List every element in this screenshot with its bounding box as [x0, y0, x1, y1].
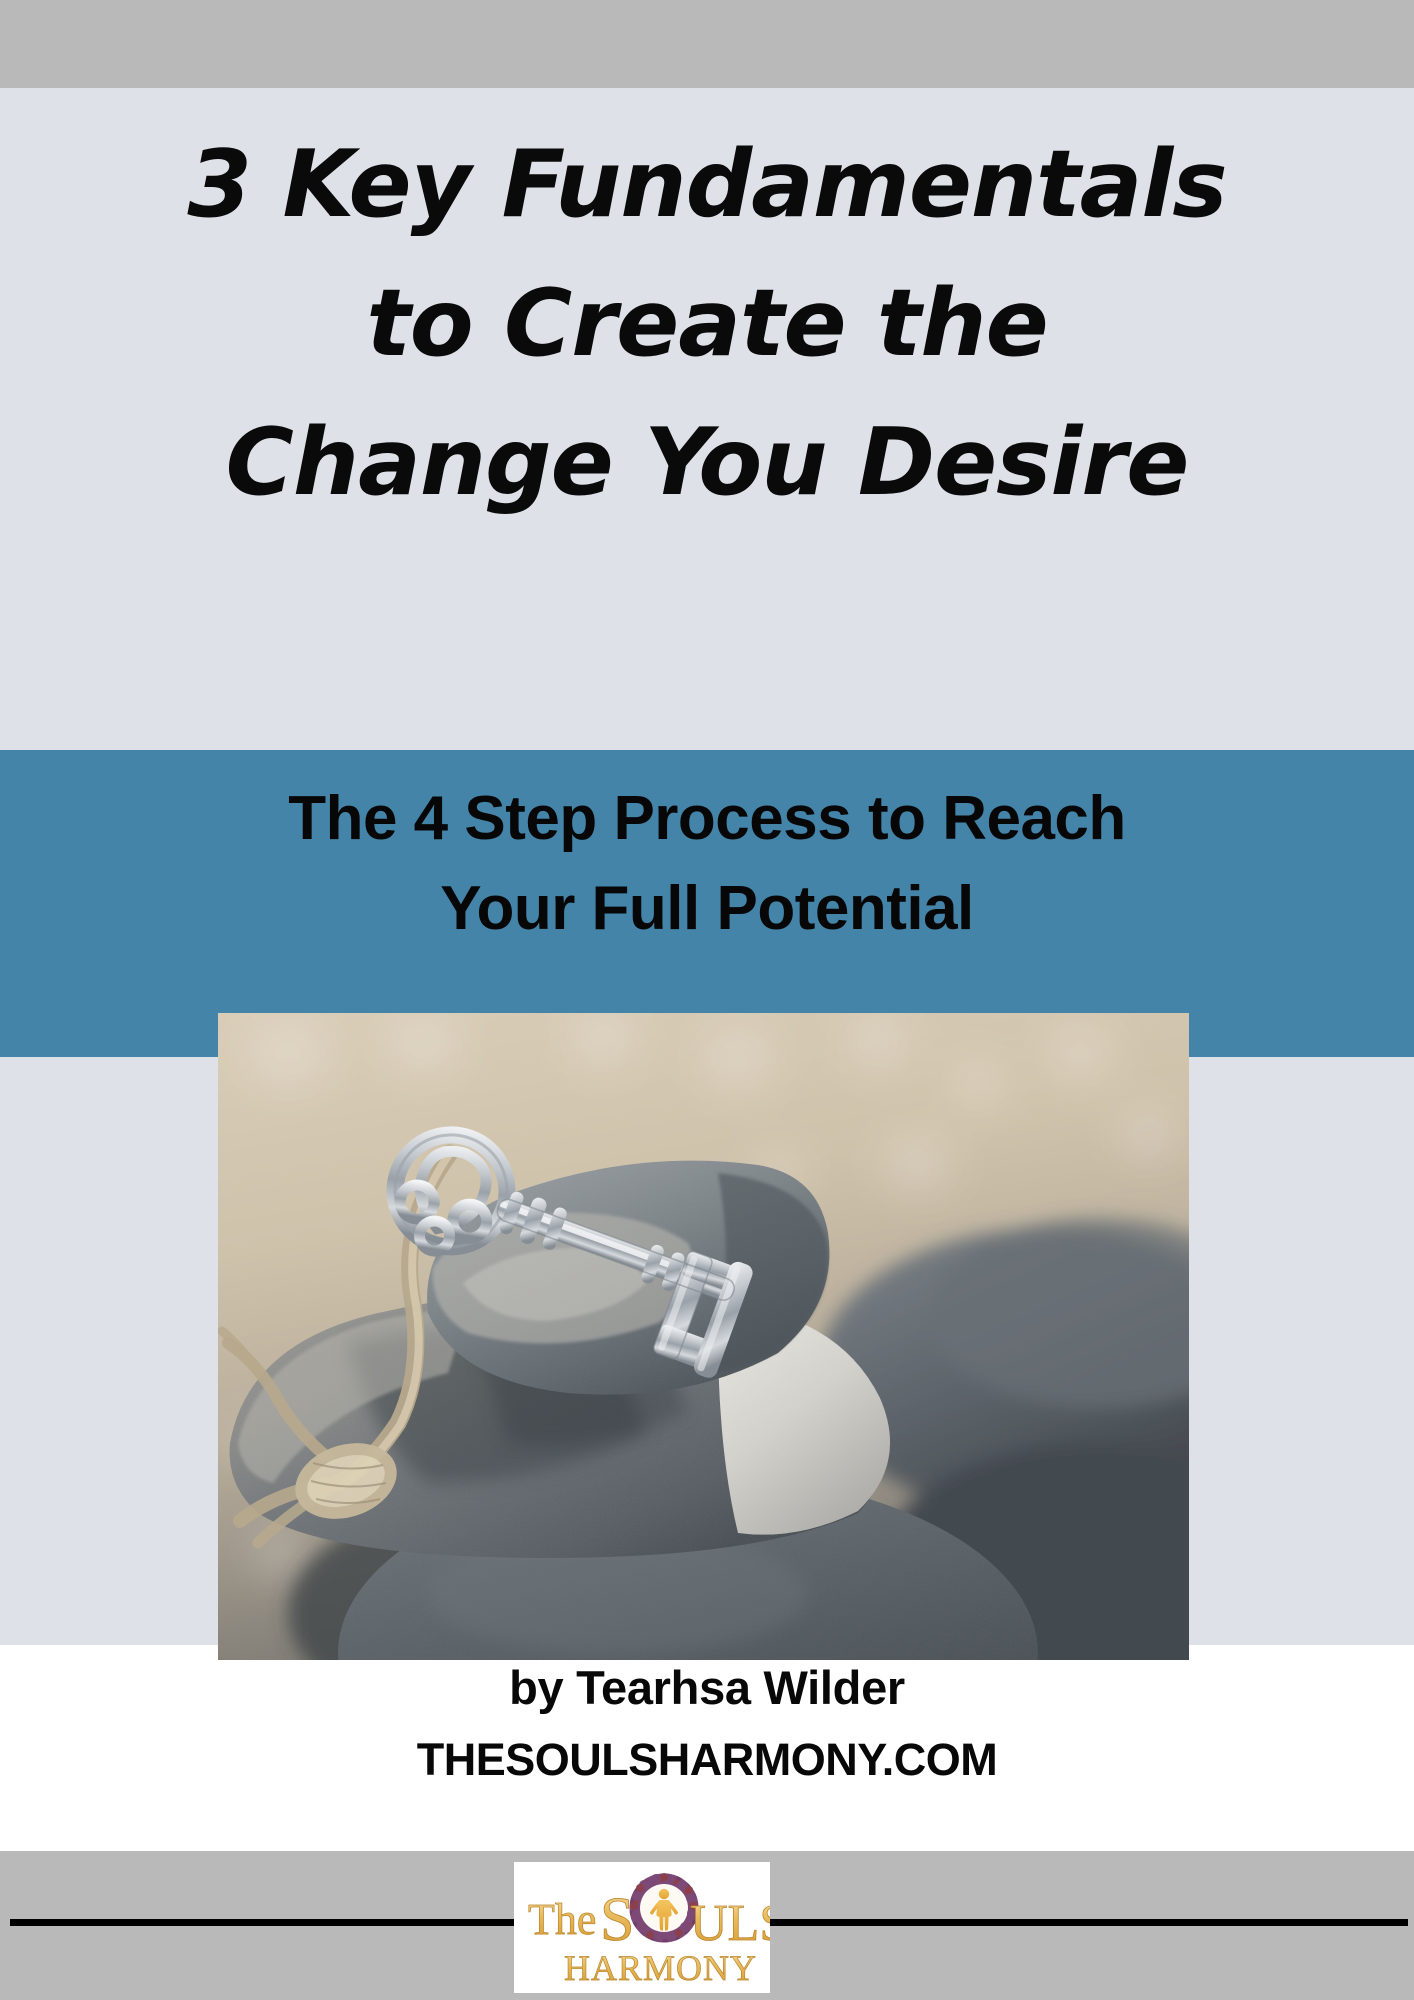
subtitle-line-1: The 4 Step Process to Reach [0, 774, 1414, 864]
subtitle-band: The 4 Step Process to Reach Your Full Po… [0, 750, 1414, 1057]
subtitle-line-2: Your Full Potential [0, 864, 1414, 954]
title-line-3: Change You Desire [0, 416, 1414, 509]
brand-logo-artwork: The S [514, 1862, 770, 1993]
website-url: THESOULSHARMONY.COM [0, 1732, 1414, 1788]
logo-the-text: The [528, 1895, 596, 1944]
author-name: by Tearhsa Wilder [0, 1660, 1414, 1716]
author-block: by Tearhsa Wilder THESOULSHARMONY.COM [0, 1660, 1414, 1789]
logo-uls-text: ULS [690, 1895, 770, 1952]
title-line-1: 3 Key Fundamentals [0, 138, 1414, 231]
ebook-cover-page: 3 Key Fundamentals to Create the Change … [0, 0, 1414, 2000]
logo-s-text: S [600, 1886, 634, 1954]
photo-artwork [218, 1013, 1189, 1660]
top-border-band [0, 0, 1414, 88]
soul-figure-wreath-icon [630, 1873, 698, 1942]
title-panel: 3 Key Fundamentals to Create the Change … [0, 88, 1414, 750]
brand-logo: The S [514, 1862, 770, 1993]
title-line-2: to Create the [0, 277, 1414, 370]
key-on-stones-photo [218, 1013, 1189, 1660]
logo-harmony-text: HARMONY [564, 1948, 757, 1988]
